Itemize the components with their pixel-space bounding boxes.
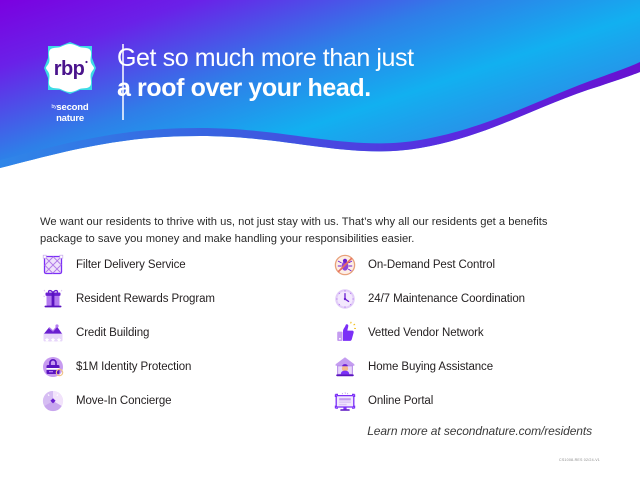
gift-box-icon [40, 286, 66, 312]
benefit-label: Vetted Vendor Network [368, 327, 484, 339]
benefit-label: $1M Identity Protection [76, 361, 191, 373]
identity-lock-icon [40, 354, 66, 380]
no-pest-icon [332, 252, 358, 278]
benefit-label: Filter Delivery Service [76, 259, 186, 271]
benefit-label: Credit Building [76, 327, 149, 339]
benefit-label: Home Buying Assistance [368, 361, 493, 373]
rbp-logo: rbp bysecond nature [30, 40, 110, 122]
benefit-item-home-buying-assistance: Home Buying Assistance [332, 350, 600, 384]
learn-more-text: Learn more at secondnature.com/residents [367, 424, 592, 438]
logo-second-text: second [56, 102, 88, 113]
svg-text:rbp: rbp [54, 58, 85, 80]
benefit-item-vetted-vendor-network: Vetted Vendor Network [332, 316, 600, 350]
benefit-label: Resident Rewards Program [76, 293, 215, 305]
benefit-item-maintenance-coordination: 24/7 Maintenance Coordination [332, 282, 600, 316]
benefits-left-column: Filter Delivery Service Resident Rewards… [40, 248, 332, 418]
benefits-grid: Filter Delivery Service Resident Rewards… [40, 248, 600, 418]
benefit-item-on-demand-pest-control: On-Demand Pest Control [332, 248, 600, 282]
benefit-item-identity-protection: $1M Identity Protection [40, 350, 332, 384]
home-person-icon [332, 354, 358, 380]
air-filter-icon [40, 252, 66, 278]
headline-line-1: Get so much more than just [117, 44, 414, 74]
benefit-label: Online Portal [368, 395, 433, 407]
concierge-wheel-icon [40, 388, 66, 414]
benefit-label: Move-In Concierge [76, 395, 171, 407]
benefit-label: 24/7 Maintenance Coordination [368, 293, 525, 305]
benefit-item-online-portal: Online Portal [332, 384, 600, 418]
benefit-item-filter-delivery-service: Filter Delivery Service [40, 248, 332, 282]
headline: Get so much more than just a roof over y… [117, 44, 414, 103]
document-code: CS1008-RES 02/24-V1 [559, 458, 600, 462]
thumbs-up-icon [332, 320, 358, 346]
header-banner: rbp bysecond nature Get so much more tha… [0, 0, 640, 185]
rbp-badge-icon: rbp [42, 40, 98, 96]
intro-paragraph: We want our residents to thrive with us,… [40, 214, 592, 248]
headline-line-2: a roof over your head. [117, 74, 414, 104]
benefit-item-resident-rewards-program: Resident Rewards Program [40, 282, 332, 316]
benefits-right-column: On-Demand Pest Control 24/7 Maintenance … [332, 248, 600, 418]
benefit-item-credit-building: Credit Building [40, 316, 332, 350]
credit-score-icon [40, 320, 66, 346]
benefit-label: On-Demand Pest Control [368, 259, 495, 271]
rbp-logo-subtext: bysecond nature [52, 98, 89, 124]
benefit-item-move-in-concierge: Move-In Concierge [40, 384, 332, 418]
monitor-portal-icon [332, 388, 358, 414]
clock-icon [332, 286, 358, 312]
logo-nature-text: nature [52, 114, 89, 124]
flyer-page: rbp bysecond nature Get so much more tha… [0, 0, 640, 480]
